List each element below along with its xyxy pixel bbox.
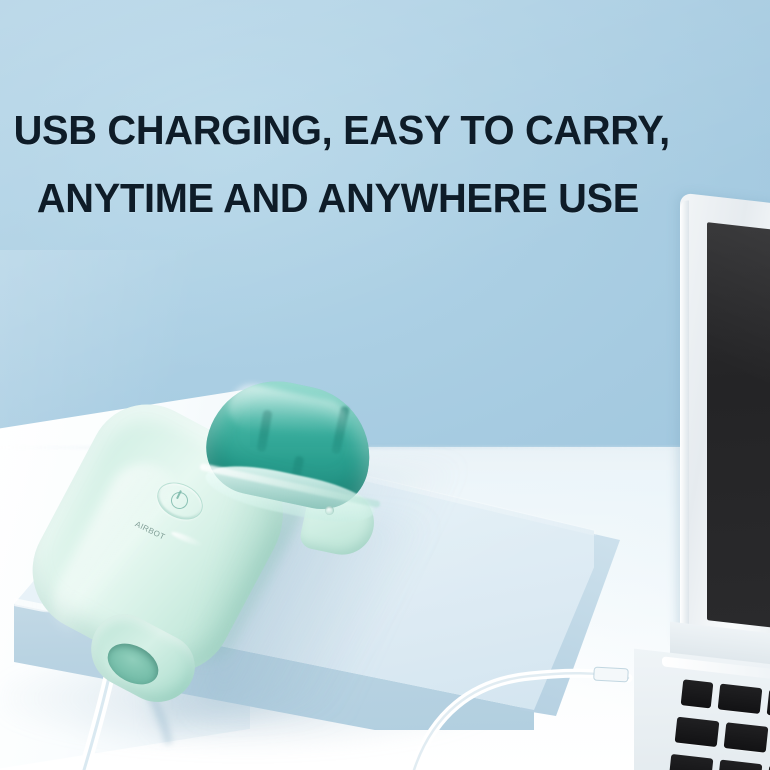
product-banner-scene: AIRBOT xyxy=(0,0,770,770)
headline-line-2: ANYTIME AND ANYWHERE USE xyxy=(0,164,747,232)
keyboard-key[interactable] xyxy=(718,684,763,714)
headline-line-1: USB CHARGING, EASY TO CARRY, xyxy=(0,96,747,164)
keyboard-key[interactable] xyxy=(681,679,714,708)
keyboard-key[interactable] xyxy=(675,717,720,747)
laptop xyxy=(640,190,770,770)
keyboard-key[interactable] xyxy=(724,722,769,752)
laptop-lid-edge xyxy=(680,199,689,650)
keyboard-key[interactable] xyxy=(767,689,770,719)
headline: USB CHARGING, EASY TO CARRY, ANYTIME AND… xyxy=(0,0,770,232)
laptop-keyboard[interactable] xyxy=(672,672,770,770)
keyboard-key[interactable] xyxy=(669,754,714,770)
handheld-vacuum-device: AIRBOT xyxy=(78,378,378,698)
keyboard-key[interactable] xyxy=(767,765,770,770)
laptop-screen-glare xyxy=(707,222,770,632)
keyboard-key[interactable] xyxy=(718,760,763,770)
